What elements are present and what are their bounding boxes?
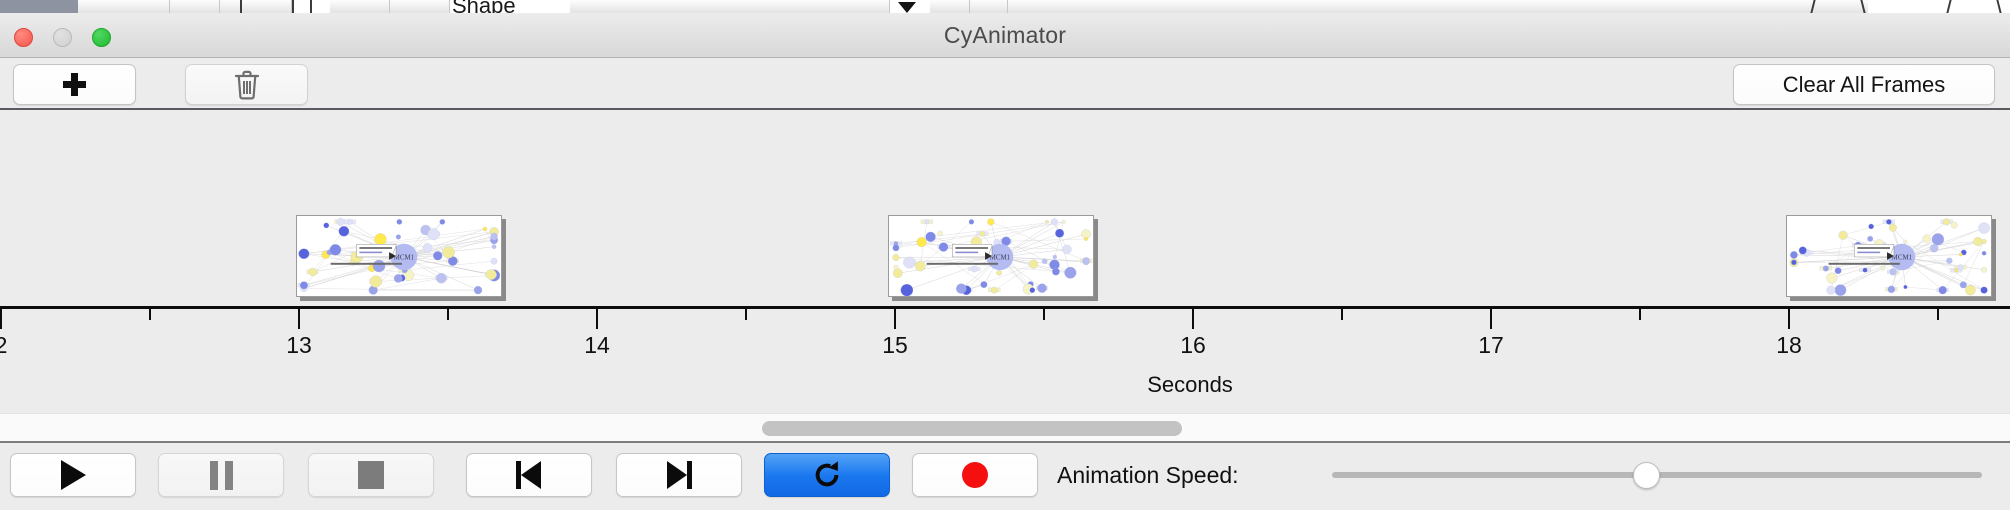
frame-thumbnail[interactable]: MCM1 [296, 215, 502, 297]
ruler-tick-minor [1341, 309, 1343, 320]
timeline-ruler [0, 306, 2010, 309]
ruler-tick-label: 15 [882, 332, 908, 359]
horizontal-scrollbar[interactable] [0, 413, 2010, 443]
timeline-frame[interactable]: MCM1 [296, 215, 506, 301]
ruler-tick-minor [149, 309, 151, 320]
previous-frame-button[interactable] [466, 453, 592, 497]
pause-icon [210, 461, 233, 490]
ruler-tick-minor [1639, 309, 1641, 320]
ruler-tick-major [1490, 309, 1492, 329]
add-frame-button[interactable] [13, 64, 136, 105]
pause-button[interactable] [158, 453, 284, 497]
ruler-tick-minor [1043, 309, 1045, 320]
background-window-sidebar [0, 0, 78, 13]
skip-back-icon [516, 461, 542, 489]
clear-all-frames-label: Clear All Frames [1783, 72, 1946, 98]
ruler-tick-minor [1937, 309, 1939, 320]
network-graph: MCM1 [1787, 216, 1991, 296]
stop-button[interactable] [308, 453, 434, 497]
record-icon [962, 462, 988, 488]
ruler-tick-label: 17 [1478, 332, 1504, 359]
title-bar: CyAnimator [0, 13, 2010, 58]
ruler-tick-minor [745, 309, 747, 320]
cyanimator-window: Shape CyAnimator Clear All F [0, 0, 2010, 510]
scrollbar-thumb[interactable] [762, 421, 1182, 436]
ruler-tick-label: 13 [286, 332, 312, 359]
animation-speed-label: Animation Speed: [1057, 453, 1239, 497]
loop-icon [812, 460, 842, 490]
ruler-tick-minor [447, 309, 449, 320]
toolbar: Clear All Frames [0, 58, 2010, 110]
animation-speed-thumb[interactable] [1633, 462, 1660, 489]
skip-forward-icon [666, 461, 692, 489]
stop-icon [358, 461, 384, 489]
ruler-tick-major [596, 309, 598, 329]
loop-button[interactable] [764, 453, 890, 497]
clear-all-frames-button[interactable]: Clear All Frames [1733, 64, 1995, 105]
plus-icon [63, 73, 86, 96]
record-button[interactable] [912, 453, 1038, 497]
hub-node-label: MCM1 [1892, 255, 1913, 262]
delete-frame-button[interactable] [185, 64, 308, 105]
network-graph: MCM1 [297, 216, 501, 296]
background-window-strip: Shape [0, 0, 2010, 13]
trash-icon [234, 70, 260, 100]
ruler-tick-label: 14 [584, 332, 610, 359]
next-frame-button[interactable] [616, 453, 742, 497]
ruler-tick-major [894, 309, 896, 329]
timeline-frame[interactable]: MCM1 [888, 215, 1098, 301]
ruler-tick-major [0, 309, 2, 329]
frame-thumbnail[interactable]: MCM1 [1786, 215, 1992, 297]
ruler-tick-major [1192, 309, 1194, 329]
background-window-label: Shape [452, 0, 516, 13]
ruler-tick-label: 18 [1776, 332, 1802, 359]
ruler-tick-major [1788, 309, 1790, 329]
network-graph: MCM1 [889, 216, 1093, 296]
hub-node-label: MCM1 [990, 255, 1011, 262]
ruler-tick-label: 16 [1180, 332, 1206, 359]
play-button[interactable] [10, 453, 136, 497]
frame-thumbnail[interactable]: MCM1 [888, 215, 1094, 297]
hub-node-label: MCM1 [394, 255, 415, 262]
player-controls: Animation Speed: [0, 445, 2010, 510]
axis-title: Seconds [50, 372, 2010, 398]
ruler-tick-major [298, 309, 300, 329]
play-icon [61, 460, 86, 490]
timeline-panel[interactable]: MCM1MCM1MCM1 2131415161718 Seconds [0, 110, 2010, 413]
window-title: CyAnimator [0, 13, 2010, 58]
ruler-tick-label: 2 [0, 332, 7, 359]
timeline-frame[interactable]: MCM1 [1786, 215, 1996, 301]
